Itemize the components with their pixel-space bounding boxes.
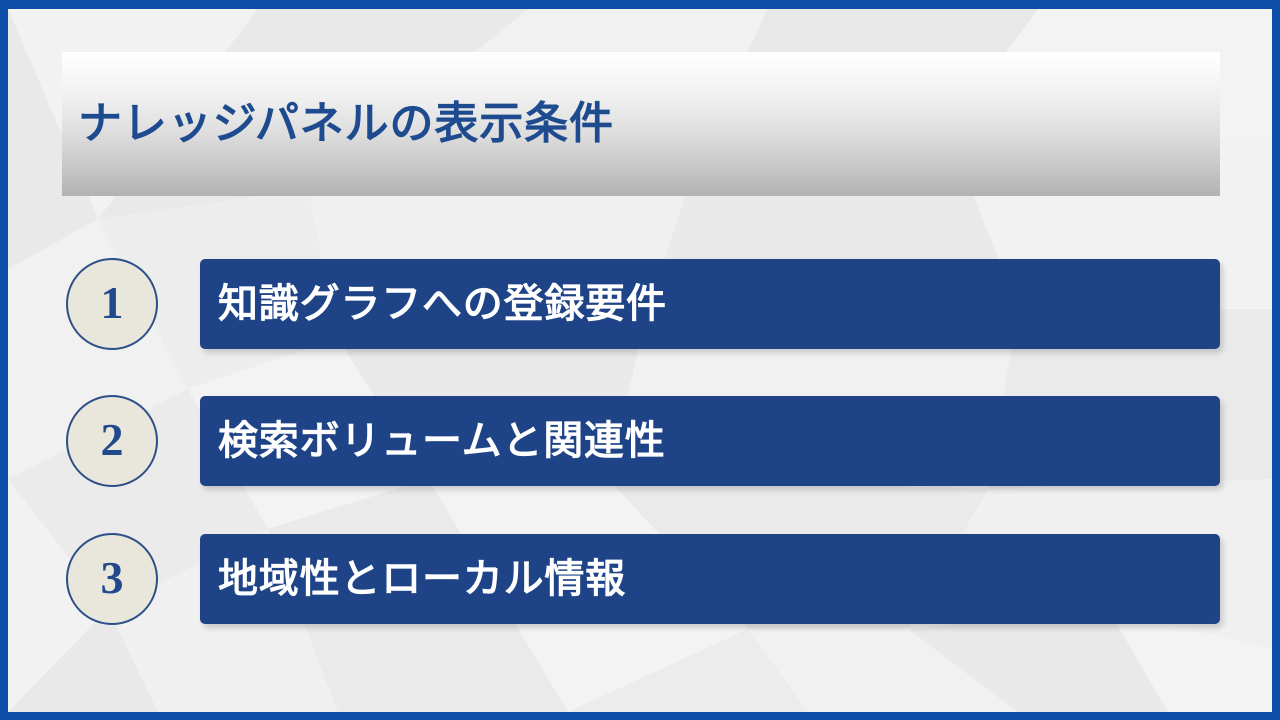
list-item[interactable]: 3 地域性とローカル情報 xyxy=(66,533,1220,625)
item-label: 地域性とローカル情報 xyxy=(218,557,626,601)
item-bar[interactable]: 地域性とローカル情報 xyxy=(200,534,1220,624)
slide-canvas: ナレッジパネルの表示条件 1 知識グラフへの登録要件 2 検索ボリュームと関連性 xyxy=(8,9,1272,712)
slide-frame: ナレッジパネルの表示条件 1 知識グラフへの登録要件 2 検索ボリュームと関連性 xyxy=(0,0,1280,720)
item-number-badge: 2 xyxy=(66,395,158,487)
item-label: 検索ボリュームと関連性 xyxy=(218,419,666,463)
list-item[interactable]: 1 知識グラフへの登録要件 xyxy=(66,258,1220,350)
item-number-badge: 3 xyxy=(66,533,158,625)
item-number-badge: 1 xyxy=(66,258,158,350)
list-item[interactable]: 2 検索ボリュームと関連性 xyxy=(66,395,1220,487)
item-number-label: 3 xyxy=(101,555,124,601)
item-label: 知識グラフへの登録要件 xyxy=(218,282,667,326)
item-bar[interactable]: 検索ボリュームと関連性 xyxy=(200,396,1220,486)
item-number-label: 1 xyxy=(101,280,124,326)
numbered-item-list: 1 知識グラフへの登録要件 2 検索ボリュームと関連性 3 xyxy=(8,9,1272,712)
item-number-label: 2 xyxy=(101,417,124,463)
item-bar[interactable]: 知識グラフへの登録要件 xyxy=(200,259,1220,349)
